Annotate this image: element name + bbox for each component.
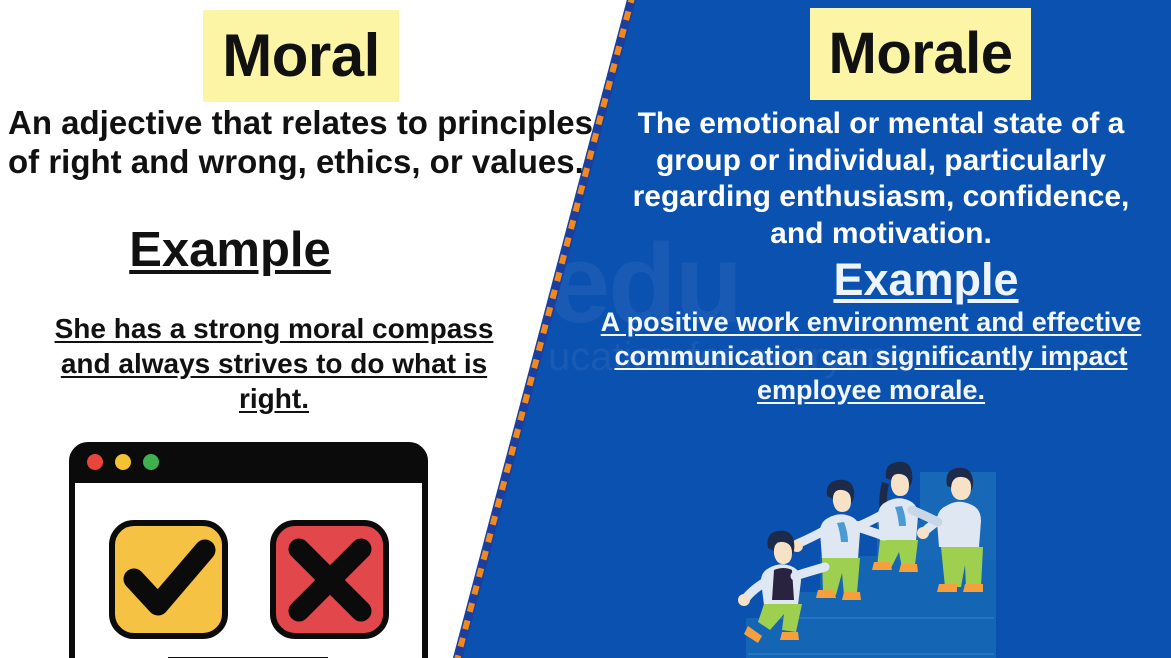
comparison-infographic: edu ucation for everyone Moral An adject… (0, 0, 1171, 658)
right-definition-text: The emotional or mental state of a group… (611, 106, 1151, 252)
browser-window-illustration (66, 439, 431, 658)
right-example-heading: Example (741, 254, 1111, 306)
dot-green-icon (143, 454, 159, 470)
dot-yellow-icon (115, 454, 131, 470)
left-definition-text: An adjective that relates to principles … (8, 104, 594, 182)
people-climbing-stairs-illustration (734, 420, 1014, 658)
left-panel: Moral An adjective that relates to princ… (0, 0, 600, 658)
right-example-text: A positive work environment and effectiv… (557, 306, 1171, 407)
left-example-text: She has a strong moral compass and alway… (32, 311, 516, 416)
right-title-chip: Morale (810, 8, 1031, 100)
left-example-heading: Example (0, 222, 460, 278)
left-title-chip: Moral (203, 10, 399, 102)
dot-red-icon (87, 454, 103, 470)
